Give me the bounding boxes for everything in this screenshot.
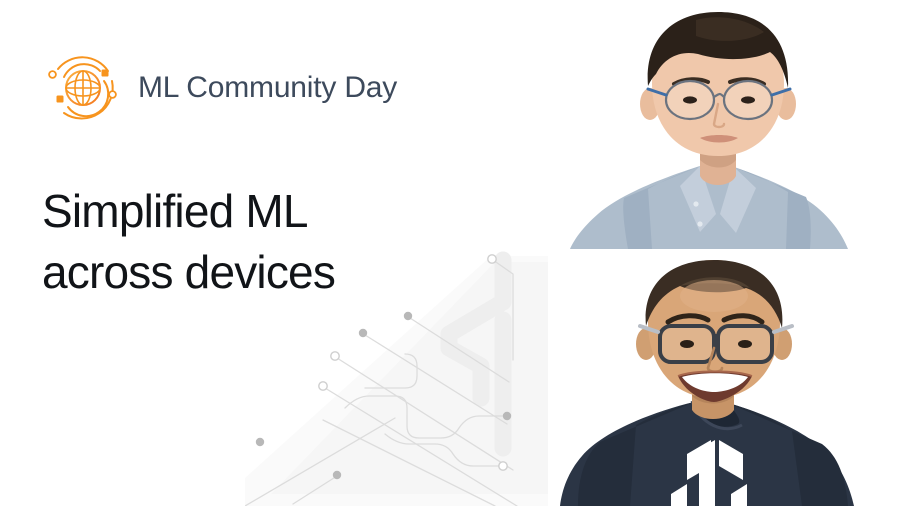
circuit-node-filled	[333, 471, 341, 479]
circuit-node-filled	[404, 312, 412, 320]
circuit-node-filled	[359, 329, 367, 337]
slide-title: Simplified ML across devices	[42, 181, 502, 303]
circuit-node-hollow	[319, 382, 327, 390]
presentation-slide: ML Community Day Simplified ML across de…	[0, 0, 900, 506]
speaker-portraits	[548, 0, 900, 506]
circuit-node-hollow	[499, 462, 507, 470]
speaker-portrait-top	[548, 0, 900, 249]
circuit-node-hollow	[331, 352, 339, 360]
brand-name: ML Community Day	[138, 73, 397, 103]
slide-title-line-2: across devices	[42, 242, 502, 303]
brand-lockup: ML Community Day	[42, 46, 397, 130]
speaker-bottom-photo	[548, 252, 900, 506]
speaker-portrait-bottom	[548, 252, 900, 506]
circuit-node-filled	[256, 438, 264, 446]
circuit-node-filled	[503, 412, 511, 420]
speaker-top-photo	[548, 0, 900, 249]
slide-title-line-1: Simplified ML	[42, 181, 502, 242]
ml-community-day-globe-orbit-icon	[42, 47, 124, 129]
